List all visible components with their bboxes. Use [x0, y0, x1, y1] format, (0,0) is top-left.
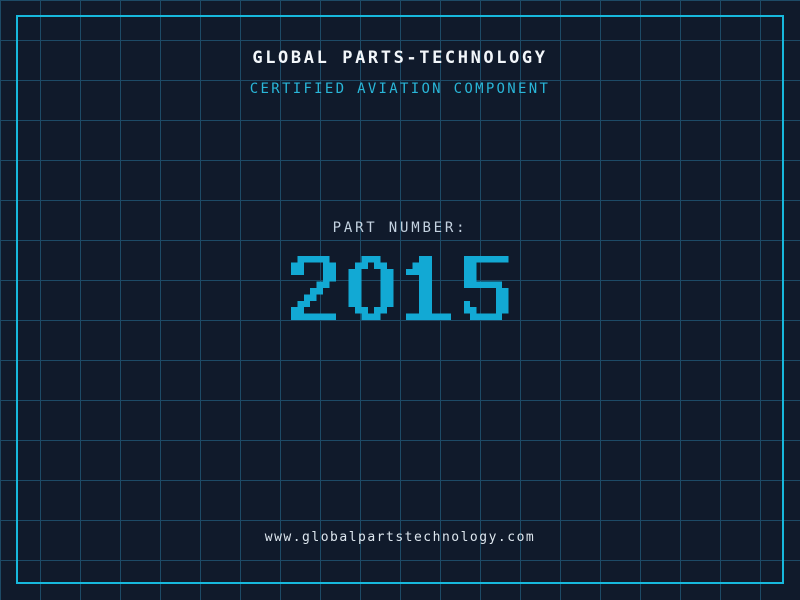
footer-url: www.globalpartstechnology.com — [0, 528, 800, 548]
part-number-value — [0, 256, 800, 336]
part-number-pixel-glyphs — [291, 256, 509, 320]
blueprint-part-card: GLOBAL PARTS-TECHNOLOGY CERTIFIED AVIATI… — [0, 0, 800, 600]
part-number-label: PART NUMBER: — [0, 218, 800, 238]
company-title: GLOBAL PARTS-TECHNOLOGY — [0, 47, 800, 69]
certification-subtitle: CERTIFIED AVIATION COMPONENT — [0, 79, 800, 99]
